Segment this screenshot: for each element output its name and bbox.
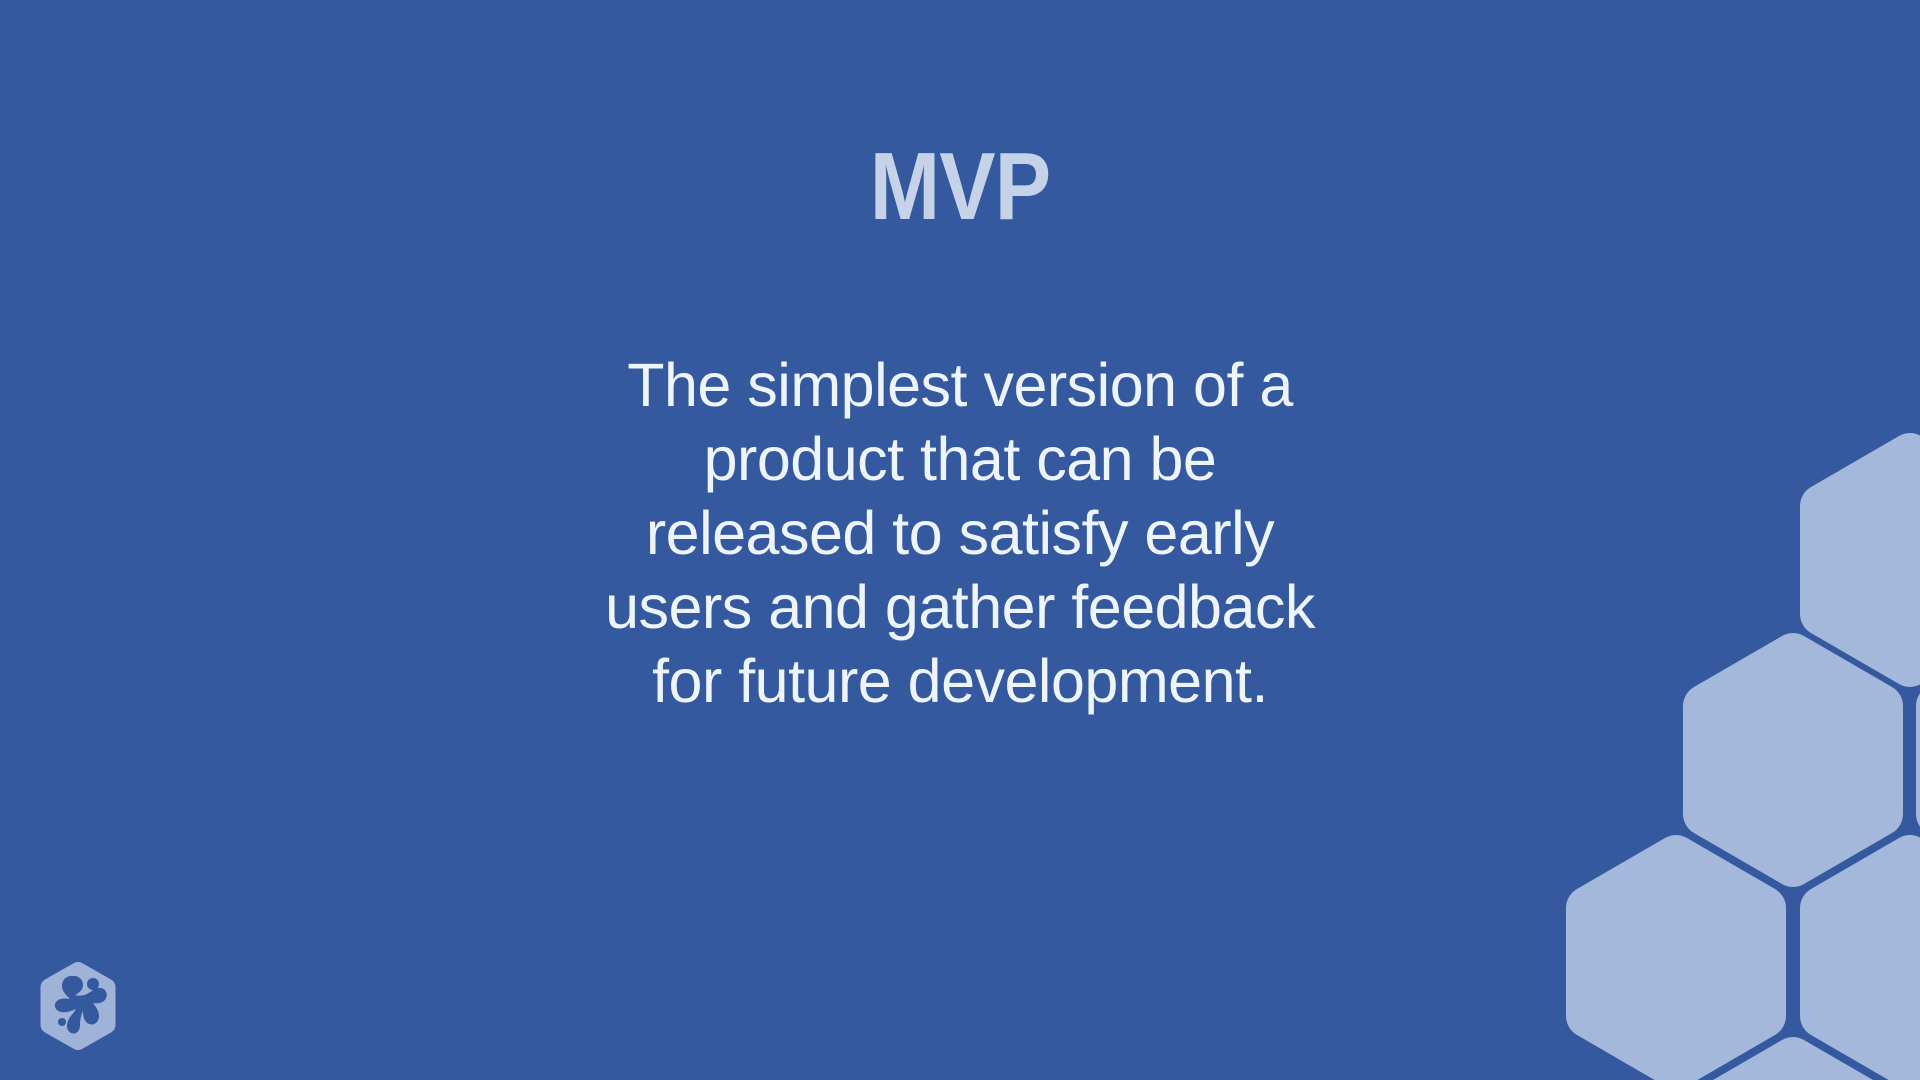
definition-line: The simplest version of a (360, 348, 1560, 422)
slide-content: MVP The simplest version of a product th… (0, 0, 1920, 1080)
definition-line: product that can be (360, 422, 1560, 496)
definition-text: The simplest version of a product that c… (360, 348, 1560, 718)
hexagon-splat-icon (40, 962, 115, 1050)
brand-logo (38, 960, 118, 1052)
page-title: MVP (115, 139, 1805, 235)
definition-line: released to satisfy early (360, 496, 1560, 570)
definition-line: users and gather feedback (360, 570, 1560, 644)
definition-line: for future development. (360, 644, 1560, 718)
slide-canvas: MVP The simplest version of a product th… (0, 0, 1920, 1080)
